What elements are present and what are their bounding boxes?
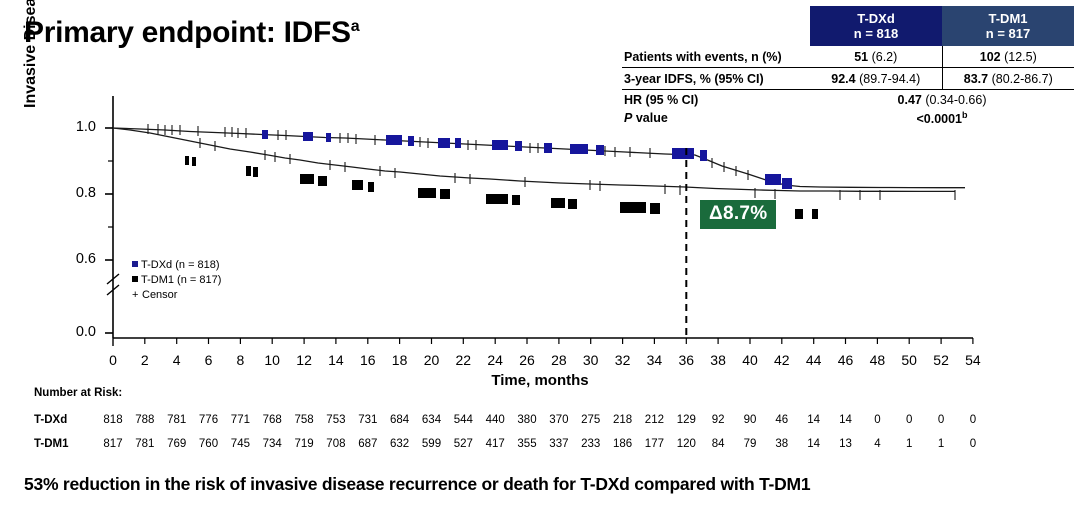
risk-tdxd-21: 46 — [769, 414, 795, 426]
legend-item-censor: +Censor — [132, 288, 221, 303]
page-title: Primary endpoint: IDFSa — [24, 16, 359, 50]
series-line-tdm1 — [113, 128, 955, 191]
risk-tdxd-16: 218 — [610, 414, 636, 426]
risk-tdm1-4: 745 — [227, 438, 253, 450]
x-tick-label-17: 34 — [642, 352, 666, 368]
risk-tdxd-13: 380 — [514, 414, 540, 426]
events-tdxd-bold: 51 — [854, 50, 868, 64]
risk-tdm1-16: 186 — [610, 438, 636, 450]
risk-tdm1-22: 14 — [801, 438, 827, 450]
risk-tdxd-1: 788 — [132, 414, 158, 426]
x-tick-label-1: 2 — [133, 352, 157, 368]
risk-tdxd-27: 0 — [960, 414, 986, 426]
header-spacer — [622, 6, 810, 46]
risk-tdm1-18: 120 — [673, 438, 699, 450]
chart-plot-area — [0, 88, 1080, 388]
x-tick-label-15: 30 — [579, 352, 603, 368]
idfs-tdm1-bold: 83.7 — [964, 72, 988, 86]
delta-badge: Δ8.7% — [700, 200, 776, 229]
y-tick-label-2: 0.8 — [62, 185, 96, 201]
series-line-tdxd — [113, 128, 965, 188]
risk-tdxd-2: 781 — [164, 414, 190, 426]
x-axis-title: Time, months — [0, 372, 1080, 389]
risk-tdm1-19: 84 — [705, 438, 731, 450]
x-tick-label-0: 0 — [101, 352, 125, 368]
risk-row-label-tdm1: T-DM1 — [34, 438, 69, 450]
idfs-tdm1-rest: (80.2-86.7) — [988, 72, 1053, 86]
risk-tdm1-5: 734 — [259, 438, 285, 450]
x-tick-label-2: 4 — [165, 352, 189, 368]
table-row-idfs: 3-year IDFS, % (95% CI) 92.4 (89.7-94.4)… — [622, 68, 1074, 90]
x-tick-label-9: 18 — [388, 352, 412, 368]
risk-tdxd-4: 771 — [227, 414, 253, 426]
x-tick-label-26: 52 — [929, 352, 953, 368]
legend-item-tdxd: T-DXd (n = 818) — [132, 258, 221, 273]
legend-label-tdxd: T-DXd (n = 818) — [141, 259, 220, 271]
risk-tdm1-13: 355 — [514, 438, 540, 450]
legend-item-tdm1: T-DM1 (n = 817) — [132, 273, 221, 288]
risk-tdm1-15: 233 — [578, 438, 604, 450]
row-value-events-tdxd: 51 (6.2) — [810, 46, 942, 68]
x-axis-ticks — [113, 338, 973, 346]
risk-tdxd-22: 14 — [801, 414, 827, 426]
column-header-tdm1-n: n = 817 — [942, 26, 1074, 41]
risk-tdm1-2: 769 — [164, 438, 190, 450]
x-tick-label-8: 16 — [356, 352, 380, 368]
row-value-idfs-tdxd: 92.4 (89.7-94.4) — [810, 68, 942, 90]
risk-tdm1-3: 760 — [196, 438, 222, 450]
row-label-idfs: 3-year IDFS, % (95% CI) — [622, 68, 810, 90]
risk-tdm1-12: 417 — [482, 438, 508, 450]
page-title-text: Primary endpoint: IDFS — [24, 16, 351, 49]
risk-tdxd-7: 753 — [323, 414, 349, 426]
risk-tdm1-0: 817 — [100, 438, 126, 450]
risk-tdm1-24: 4 — [864, 438, 890, 450]
legend-label-tdm1: T-DM1 (n = 817) — [141, 274, 221, 286]
idfs-tdxd-bold: 92.4 — [831, 72, 855, 86]
risk-tdm1-1: 781 — [132, 438, 158, 450]
risk-tdxd-10: 634 — [419, 414, 445, 426]
page-title-superscript: a — [351, 18, 360, 35]
x-tick-label-27: 54 — [961, 352, 985, 368]
x-tick-label-5: 10 — [260, 352, 284, 368]
legend-swatch-tdxd-icon — [132, 261, 138, 267]
x-tick-label-16: 32 — [611, 352, 635, 368]
x-tick-label-19: 38 — [706, 352, 730, 368]
risk-tdm1-17: 177 — [641, 438, 667, 450]
risk-tdxd-5: 768 — [259, 414, 285, 426]
risk-tdm1-9: 632 — [387, 438, 413, 450]
risk-tdxd-25: 0 — [896, 414, 922, 426]
chart-legend: T-DXd (n = 818) T-DM1 (n = 817) +Censor — [132, 258, 221, 303]
risk-tdxd-26: 0 — [928, 414, 954, 426]
risk-tdm1-21: 38 — [769, 438, 795, 450]
idfs-tdxd-rest: (89.7-94.4) — [856, 72, 921, 86]
x-axis-title-text: Time, months — [491, 372, 588, 389]
x-tick-label-13: 26 — [515, 352, 539, 368]
x-tick-label-7: 14 — [324, 352, 348, 368]
risk-tdxd-11: 544 — [450, 414, 476, 426]
row-label-events: Patients with events, n (%) — [622, 46, 810, 68]
column-header-tdxd-name: T-DXd — [810, 11, 942, 26]
risk-tdxd-24: 0 — [864, 414, 890, 426]
risk-tdm1-8: 687 — [355, 438, 381, 450]
risk-tdxd-9: 684 — [387, 414, 413, 426]
legend-censor-plus-icon: + — [132, 288, 140, 303]
x-tick-label-23: 46 — [834, 352, 858, 368]
km-curve-svg — [0, 88, 1080, 388]
risk-tdxd-12: 440 — [482, 414, 508, 426]
x-tick-label-11: 22 — [451, 352, 475, 368]
risk-tdm1-25: 1 — [896, 438, 922, 450]
risk-row-label-tdxd: T-DXd — [34, 414, 67, 426]
risk-tdm1-10: 599 — [419, 438, 445, 450]
y-tick-label-1: 1.0 — [62, 119, 96, 135]
x-tick-label-18: 36 — [674, 352, 698, 368]
risk-tdm1-27: 0 — [960, 438, 986, 450]
risk-tdm1-7: 708 — [323, 438, 349, 450]
risk-tdm1-26: 1 — [928, 438, 954, 450]
y-tick-label-3: 0.6 — [62, 251, 96, 267]
x-tick-label-20: 40 — [738, 352, 762, 368]
column-header-tdxd: T-DXd n = 818 — [810, 6, 942, 46]
risk-tdm1-11: 527 — [450, 438, 476, 450]
x-tick-label-10: 20 — [420, 352, 444, 368]
risk-tdm1-23: 13 — [833, 438, 859, 450]
column-header-tdm1: T-DM1 n = 817 — [942, 6, 1074, 46]
risk-tdxd-19: 92 — [705, 414, 731, 426]
row-value-events-tdm1: 102 (12.5) — [942, 46, 1074, 68]
x-tick-label-21: 42 — [770, 352, 794, 368]
risk-tdxd-17: 212 — [641, 414, 667, 426]
column-header-tdxd-n: n = 818 — [810, 26, 942, 41]
risk-tdxd-20: 90 — [737, 414, 763, 426]
x-tick-label-6: 12 — [292, 352, 316, 368]
risk-tdxd-0: 818 — [100, 414, 126, 426]
risk-tdxd-3: 776 — [196, 414, 222, 426]
risk-tdxd-8: 731 — [355, 414, 381, 426]
events-tdm1-bold: 102 — [980, 50, 1001, 64]
events-tdm1-rest: (12.5) — [1001, 50, 1037, 64]
x-tick-label-22: 44 — [802, 352, 826, 368]
risk-tdxd-18: 129 — [673, 414, 699, 426]
risk-tdm1-20: 79 — [737, 438, 763, 450]
column-header-tdm1-name: T-DM1 — [942, 11, 1074, 26]
x-tick-label-25: 50 — [897, 352, 921, 368]
risk-table-title: Number at Risk: — [34, 387, 122, 399]
legend-swatch-tdm1-icon — [132, 276, 138, 282]
y-tick-label-4: 0.0 — [62, 324, 96, 340]
risk-tdxd-15: 275 — [578, 414, 604, 426]
slide-root: Primary endpoint: IDFSa T-DXd n = 818 T-… — [0, 0, 1080, 507]
risk-tdm1-6: 719 — [291, 438, 317, 450]
x-tick-label-12: 24 — [483, 352, 507, 368]
risk-tdm1-14: 337 — [546, 438, 572, 450]
censor-marks-tdxd — [148, 124, 748, 180]
table-row-events: Patients with events, n (%) 51 (6.2) 102… — [622, 46, 1074, 68]
x-tick-label-14: 28 — [547, 352, 571, 368]
legend-label-censor: Censor — [142, 289, 177, 301]
risk-tdxd-14: 370 — [546, 414, 572, 426]
events-tdxd-rest: (6.2) — [868, 50, 897, 64]
x-tick-label-3: 6 — [197, 352, 221, 368]
x-tick-label-4: 8 — [228, 352, 252, 368]
risk-tdxd-6: 758 — [291, 414, 317, 426]
x-tick-label-24: 48 — [865, 352, 889, 368]
row-value-idfs-tdm1: 83.7 (80.2-86.7) — [942, 68, 1074, 90]
risk-tdxd-23: 14 — [833, 414, 859, 426]
results-table-header-row: T-DXd n = 818 T-DM1 n = 817 — [622, 6, 1074, 46]
footer-caption: 53% reduction in the risk of invasive di… — [24, 474, 1064, 495]
